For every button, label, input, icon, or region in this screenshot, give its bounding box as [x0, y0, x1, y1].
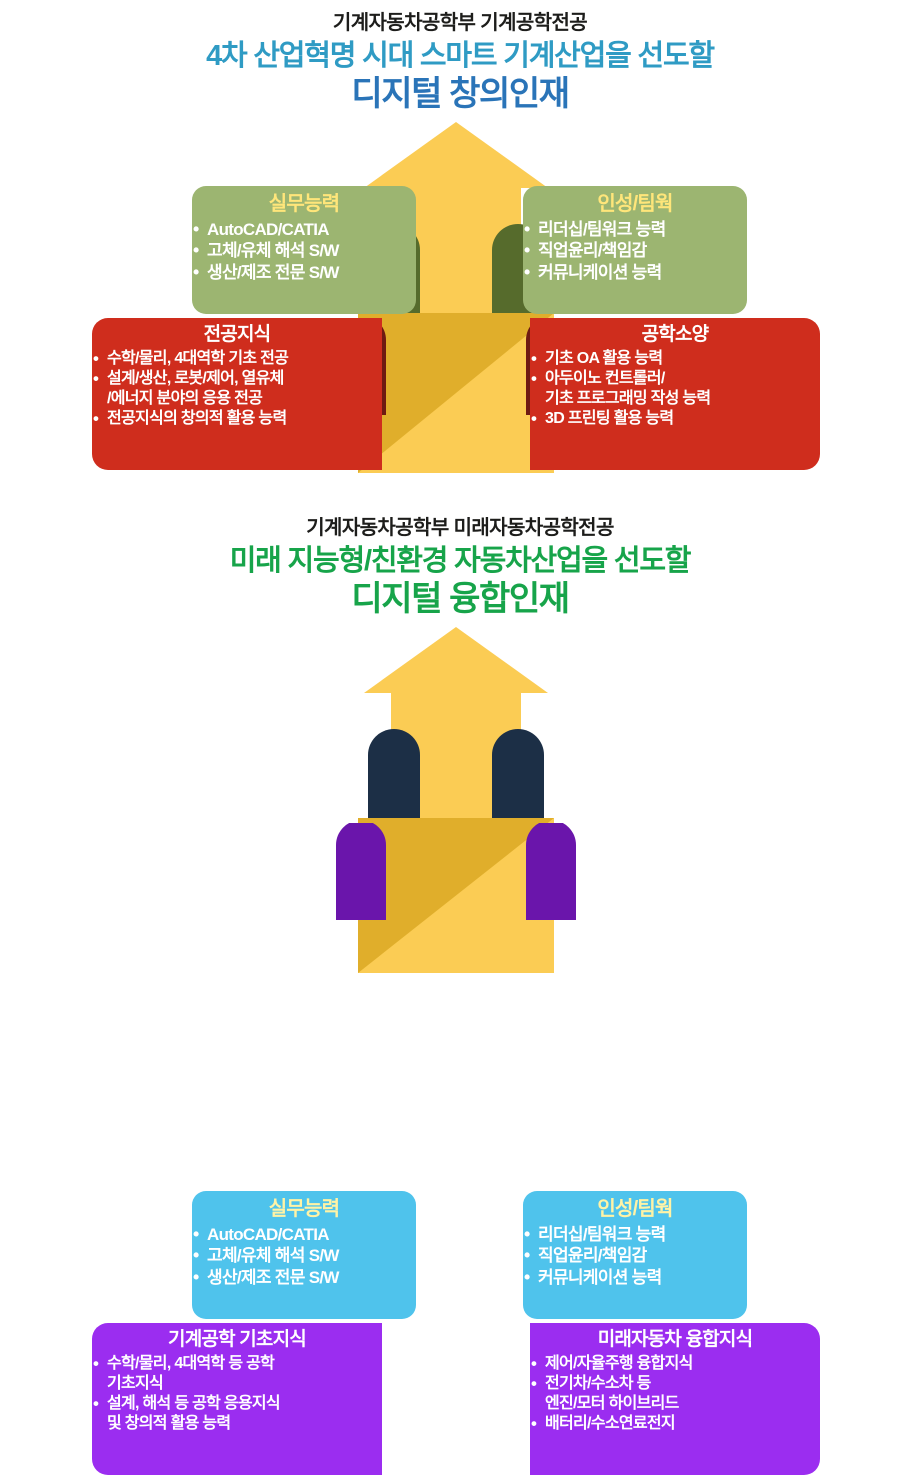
- list-item: 고체/유체 해석 S/W: [192, 1245, 416, 1266]
- list-item: 전공지식의 창의적 활용 능력: [92, 409, 382, 429]
- card-title: 실무능력: [192, 186, 416, 216]
- arrow-shadow-auto: [358, 818, 554, 973]
- arrow-shadow-mech: [358, 313, 554, 473]
- card-engineering-literacy-mech[interactable]: 공학소양 기초 OA 활용 능력 아두이노 컨트롤러/ 기초 프로그래밍 작성 …: [530, 318, 820, 470]
- list-item: AutoCAD/CATIA: [192, 219, 416, 240]
- list-item: 설계/생산, 로봇/제어, 열유체: [92, 369, 382, 389]
- list-item: 제어/자율주행 융합지식: [530, 1354, 820, 1374]
- list-item: 설계, 해석 등 공학 응용지식: [92, 1394, 382, 1414]
- card-title: 실무능력: [192, 1191, 416, 1221]
- arrow-head-mech: [364, 122, 548, 188]
- card-title: 공학소양: [530, 318, 820, 346]
- card-future-automotive-knowledge-auto[interactable]: 미래자동차 융합지식 제어/자율주행 융합지식 전기차/수소차 등 엔진/모터 …: [530, 1323, 820, 1475]
- card-list: AutoCAD/CATIA 고체/유체 해석 S/W 생산/제조 전문 S/W: [192, 219, 416, 283]
- department-label-mech: 기계자동차공학부 기계공학전공: [0, 12, 920, 34]
- list-item: 수학/물리, 4대역학 기초 전공: [92, 349, 382, 369]
- section-mechanical-engineering: 기계자동차공학부 기계공학전공 4차 산업혁명 시대 스마트 기계산업을 선도할…: [0, 0, 920, 495]
- list-item: 기초 OA 활용 능력: [530, 349, 820, 369]
- card-list: 수학/물리, 4대역학 등 공학 기초지식 설계, 해석 등 공학 응용지식 및…: [92, 1354, 382, 1435]
- card-list: 기초 OA 활용 능력 아두이노 컨트롤러/ 기초 프로그래밍 작성 능력 3D…: [530, 349, 820, 430]
- department-label-auto: 기계자동차공학부 미래자동차공학전공: [0, 517, 920, 539]
- list-item: /에너지 분야의 응용 전공: [92, 389, 382, 409]
- list-item: 및 창의적 활용 능력: [92, 1414, 382, 1434]
- list-item: 기초 프로그래밍 작성 능력: [530, 389, 820, 409]
- list-item: 고체/유체 해석 S/W: [192, 240, 416, 261]
- card-title: 전공지식: [92, 318, 382, 346]
- arrow-head-auto: [364, 627, 548, 693]
- list-item: 엔진/모터 하이브리드: [530, 1394, 820, 1414]
- slogan-label-auto: 미래 지능형/친환경 자동차산업을 선도할: [0, 545, 920, 578]
- card-practical-skills-mech[interactable]: 실무능력 AutoCAD/CATIA 고체/유체 해석 S/W 생산/제조 전문…: [192, 186, 416, 314]
- card-list: 수학/물리, 4대역학 기초 전공 설계/생산, 로봇/제어, 열유체 /에너지…: [92, 349, 382, 430]
- list-item: AutoCAD/CATIA: [192, 1224, 416, 1245]
- list-item: 배터리/수소연료전지: [530, 1414, 820, 1434]
- list-item: 생산/제조 전문 S/W: [192, 262, 416, 283]
- arrow-shaft-auto: [391, 675, 521, 705]
- slogan-label-mech: 4차 산업혁명 시대 스마트 기계산업을 선도할: [0, 40, 920, 73]
- card-list: 리더십/팀워크 능력 직업윤리/책임감 커뮤니케이션 능력: [523, 219, 747, 283]
- list-item: 직업윤리/책임감: [523, 240, 747, 261]
- list-item: 커뮤니케이션 능력: [523, 262, 747, 283]
- section-future-automotive: 기계자동차공학부 미래자동차공학전공 미래 지능형/친환경 자동차산업을 선도할…: [0, 500, 920, 990]
- list-item: 생산/제조 전문 S/W: [192, 1267, 416, 1288]
- card-mechanical-basics-auto[interactable]: 기계공학 기초지식 수학/물리, 4대역학 등 공학 기초지식 설계, 해석 등…: [92, 1323, 382, 1475]
- notch-group-blue: [368, 729, 544, 835]
- list-item: 아두이노 컨트롤러/: [530, 369, 820, 389]
- card-title: 미래자동차 융합지식: [530, 1323, 820, 1351]
- list-item: 전기차/수소차 등: [530, 1374, 820, 1394]
- list-item: 커뮤니케이션 능력: [523, 1267, 747, 1288]
- card-list: AutoCAD/CATIA 고체/유체 해석 S/W 생산/제조 전문 S/W: [192, 1224, 416, 1288]
- list-item: 리더십/팀워크 능력: [523, 219, 747, 240]
- notch-group-purple: [336, 820, 576, 920]
- list-item: 직업윤리/책임감: [523, 1245, 747, 1266]
- list-item: 기초지식: [92, 1374, 382, 1394]
- card-title: 인성/팀웍: [523, 186, 747, 216]
- card-list: 제어/자율주행 융합지식 전기차/수소차 등 엔진/모터 하이브리드 배터리/수…: [530, 1354, 820, 1435]
- card-title: 인성/팀웍: [523, 1191, 747, 1221]
- arrow-column-lower-mech: [358, 313, 554, 473]
- card-personality-teamwork-mech[interactable]: 인성/팀웍 리더십/팀워크 능력 직업윤리/책임감 커뮤니케이션 능력: [523, 186, 747, 314]
- card-major-knowledge-mech[interactable]: 전공지식 수학/물리, 4대역학 기초 전공 설계/생산, 로봇/제어, 열유체…: [92, 318, 382, 470]
- arrow-column-lower-auto: [358, 818, 554, 973]
- list-item: 리더십/팀워크 능력: [523, 1224, 747, 1245]
- list-item: 3D 프린팅 활용 능력: [530, 409, 820, 429]
- list-item: 수학/물리, 4대역학 등 공학: [92, 1354, 382, 1374]
- heading-mechanical: 기계자동차공학부 기계공학전공 4차 산업혁명 시대 스마트 기계산업을 선도할…: [0, 12, 920, 114]
- card-title: 기계공학 기초지식: [92, 1323, 382, 1351]
- title-label-auto: 디지털 융합인재: [0, 580, 920, 619]
- card-practical-skills-auto[interactable]: 실무능력 AutoCAD/CATIA 고체/유체 해석 S/W 생산/제조 전문…: [192, 1191, 416, 1319]
- card-personality-teamwork-auto[interactable]: 인성/팀웍 리더십/팀워크 능력 직업윤리/책임감 커뮤니케이션 능력: [523, 1191, 747, 1319]
- heading-automotive: 기계자동차공학부 미래자동차공학전공 미래 지능형/친환경 자동차산업을 선도할…: [0, 517, 920, 619]
- card-list: 리더십/팀워크 능력 직업윤리/책임감 커뮤니케이션 능력: [523, 1224, 747, 1288]
- central-arrow-pillar-auto: [0, 500, 920, 990]
- title-label-mech: 디지털 창의인재: [0, 75, 920, 114]
- arrow-column-upper-auto: [391, 691, 521, 819]
